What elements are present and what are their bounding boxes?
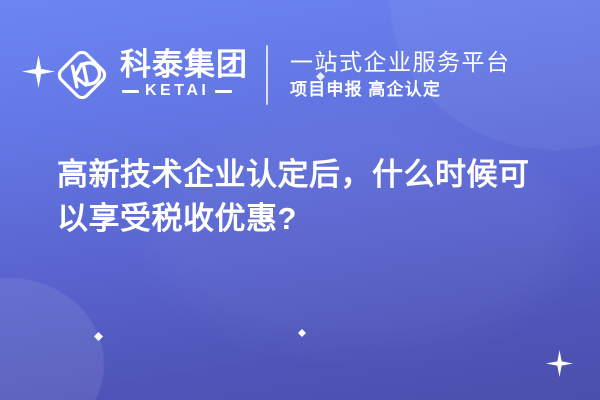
diamond-dot-icon [94, 332, 103, 341]
page-title: 高新技术企业认定后，什么时候可 以享受税收优惠? [57, 153, 562, 241]
diamond-dot-icon [298, 329, 306, 337]
logo-wordmark: 科泰集团 KETAI [120, 49, 248, 100]
header-taglines: 一站式企业服务平台 项目申报 高企认定 [290, 50, 511, 100]
logo-company-name-cn: 科泰集团 [120, 49, 248, 81]
four-point-star-icon [546, 350, 573, 377]
blob-bottom-left [0, 278, 104, 400]
tagline-main: 一站式企业服务平台 [290, 50, 511, 76]
logo-english-row: KETAI [120, 83, 248, 99]
tagline-sub: 项目申报 高企认定 [290, 80, 511, 100]
promo-banner: 科泰集团 KETAI 一站式企业服务平台 项目申报 高企认定 高新技术企业认定后… [0, 0, 600, 400]
banner-header: 科泰集团 KETAI 一站式企业服务平台 项目申报 高企认定 [0, 36, 600, 114]
ketai-diamond-kd-logo-icon [54, 47, 110, 103]
headline-line-2: 以享受税收优惠? [57, 197, 562, 241]
headline-line-1: 高新技术企业认定后，什么时候可 [57, 153, 562, 197]
logo-rule-right [215, 90, 232, 93]
vertical-divider [266, 45, 268, 105]
logo-rule-left [122, 90, 139, 93]
logo-company-name-en: KETAI [145, 83, 209, 99]
